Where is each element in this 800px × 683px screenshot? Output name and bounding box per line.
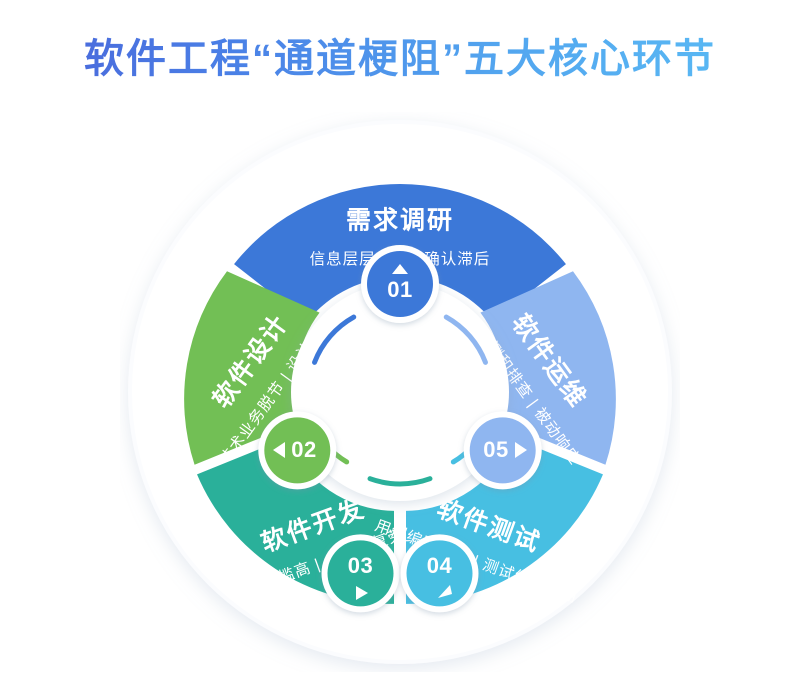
node-02[interactable]: 02 — [258, 411, 336, 489]
process-wheel-diagram: 需求调研 信息层层衰减 | 确认滞后 软件设计 技术业务脱节 | 设计难落地 软… — [120, 112, 680, 672]
node-03[interactable]: 03 — [322, 534, 400, 612]
node-05-label: 05 — [483, 437, 508, 462]
node-04[interactable]: 04 — [401, 534, 479, 612]
node-03-label: 03 — [348, 553, 373, 578]
node-05[interactable]: 05 — [464, 411, 542, 489]
node-01[interactable]: 01 — [361, 245, 439, 323]
node-02-label: 02 — [291, 437, 316, 462]
node-01-label: 01 — [387, 277, 412, 302]
node-04-label: 04 — [427, 553, 453, 578]
segment-01-title: 需求调研 — [346, 207, 454, 235]
page-title: 软件工程“通道梗阻”五大核心环节 — [0, 26, 800, 84]
